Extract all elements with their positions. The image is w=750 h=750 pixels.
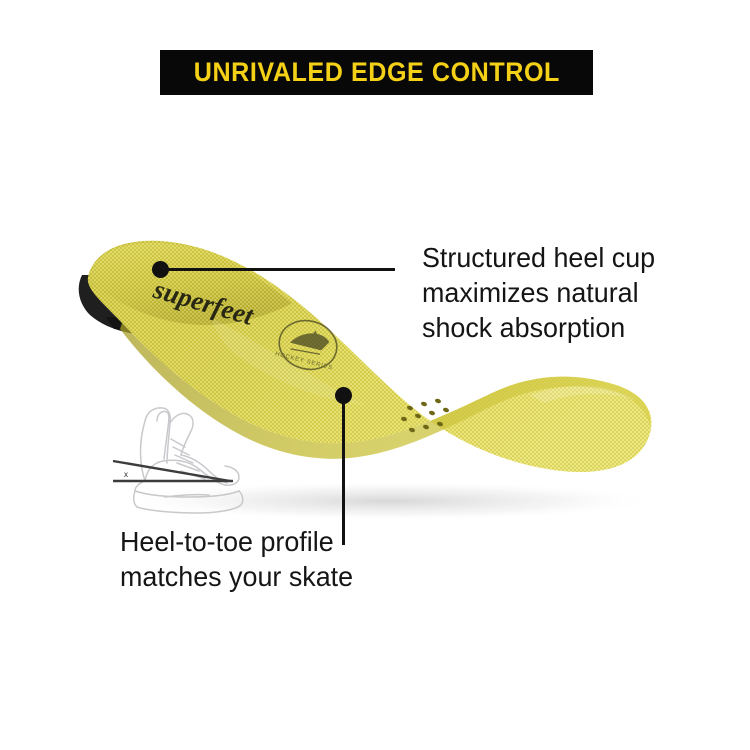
header-banner: UNRIVALED EDGE CONTROL bbox=[160, 50, 593, 95]
product-infographic: UNRIVALED EDGE CONTROL bbox=[0, 0, 750, 750]
callout-heel-cup-text: Structured heel cup maximizes natural sh… bbox=[422, 240, 681, 345]
callout-heel-cup-line-1: Structured heel cup bbox=[422, 240, 681, 275]
skate-angle-diagram: x bbox=[105, 403, 270, 515]
callout-heel-cup-line-3: shock absorption bbox=[422, 310, 681, 345]
callout-profile-line-1: Heel-to-toe profile bbox=[120, 524, 360, 559]
callout-heel-cup-leader-line bbox=[168, 268, 395, 271]
angle-label: x bbox=[124, 470, 128, 479]
skate-outline bbox=[134, 408, 243, 513]
page-title: UNRIVALED EDGE CONTROL bbox=[193, 57, 559, 88]
angle-marker: x bbox=[113, 461, 233, 481]
callout-heel-cup-line-2: maximizes natural bbox=[422, 275, 681, 310]
callout-heel-cup-marker bbox=[152, 261, 169, 278]
callout-profile-line-2: matches your skate bbox=[120, 559, 360, 594]
callout-profile-text: Heel-to-toe profile matches your skate bbox=[120, 524, 360, 594]
